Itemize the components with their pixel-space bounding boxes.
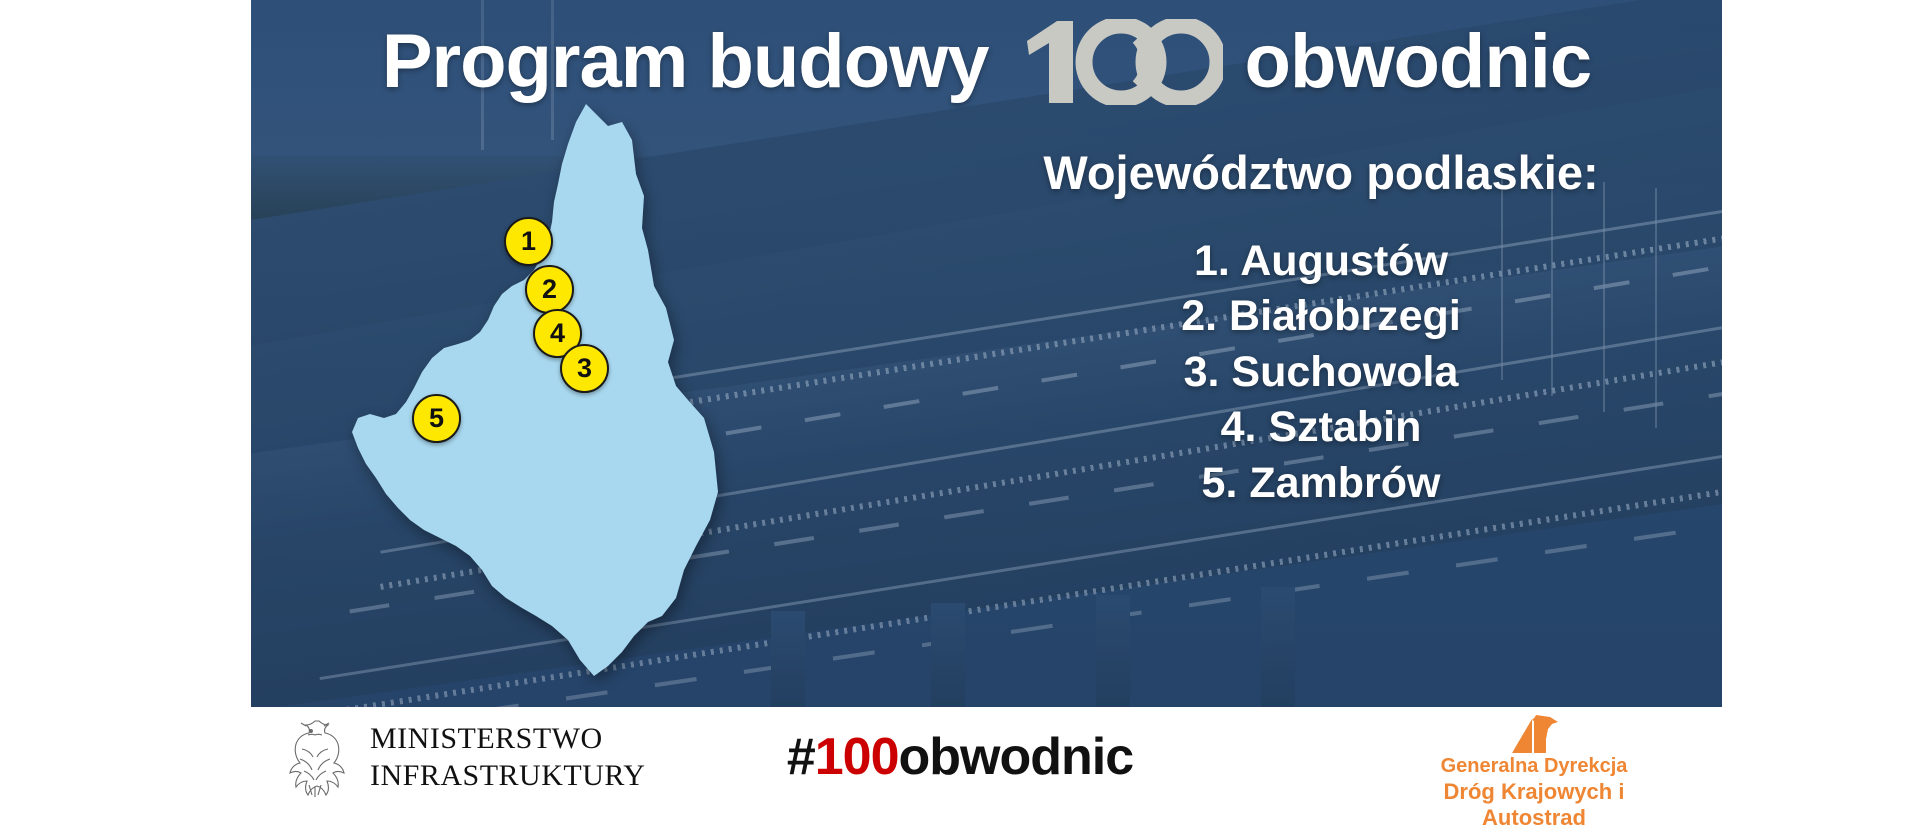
page-title: Program budowy obwodnic: [251, 18, 1722, 105]
list-item: 4. Sztabin: [951, 400, 1691, 455]
list-item: 2. Białobrzegi: [951, 289, 1691, 344]
map-region-shape: [352, 104, 718, 676]
list-item: 1. Augustów: [951, 234, 1691, 289]
map-marker-label: 2: [542, 276, 557, 303]
list-item: 3. Suchowola: [951, 345, 1691, 400]
voivodeship-heading: Województwo podlaskie:: [951, 145, 1691, 200]
map-marker-1[interactable]: 1: [504, 217, 553, 266]
logo-100-icon: [1011, 19, 1223, 105]
gddkia-logo: Generalna Dyrekcja Dróg Krajowych i Auto…: [1404, 713, 1664, 831]
poster-root: Program budowy obwodnic 1: [0, 0, 1920, 810]
title-text-before: Program budowy: [382, 18, 989, 105]
map-marker-label: 1: [521, 228, 536, 255]
hashtag-number: 100: [815, 728, 899, 786]
map-marker-label: 3: [577, 355, 592, 382]
map-podlaskie: 1 2 4 3 5: [336, 100, 756, 700]
gddkia-line-1: Generalna Dyrekcja: [1404, 755, 1664, 779]
list-item: 5. Zambrów: [951, 456, 1691, 511]
city-list: 1. Augustów 2. Białobrzegi 3. Suchowola …: [951, 234, 1691, 511]
hero-banner: Program budowy obwodnic 1: [251, 0, 1722, 707]
map-marker-5[interactable]: 5: [412, 394, 461, 443]
map-marker-label: 4: [550, 320, 565, 347]
title-text-after: obwodnic: [1245, 18, 1592, 105]
hashtag-word: obwodnic: [899, 728, 1134, 786]
gddkia-line-2: Dróg Krajowych i Autostrad: [1404, 779, 1664, 831]
footer-bar: MINISTERSTWO INFRASTRUKTURY #100obwodnic…: [0, 707, 1920, 810]
map-marker-2[interactable]: 2: [525, 265, 574, 314]
hashtag-symbol: #: [787, 728, 815, 786]
map-marker-label: 5: [429, 405, 444, 432]
region-info-panel: Województwo podlaskie: 1. Augustów 2. Bi…: [951, 145, 1691, 511]
map-marker-3[interactable]: 3: [560, 344, 609, 393]
gddkia-eagle-icon: [1404, 713, 1664, 755]
